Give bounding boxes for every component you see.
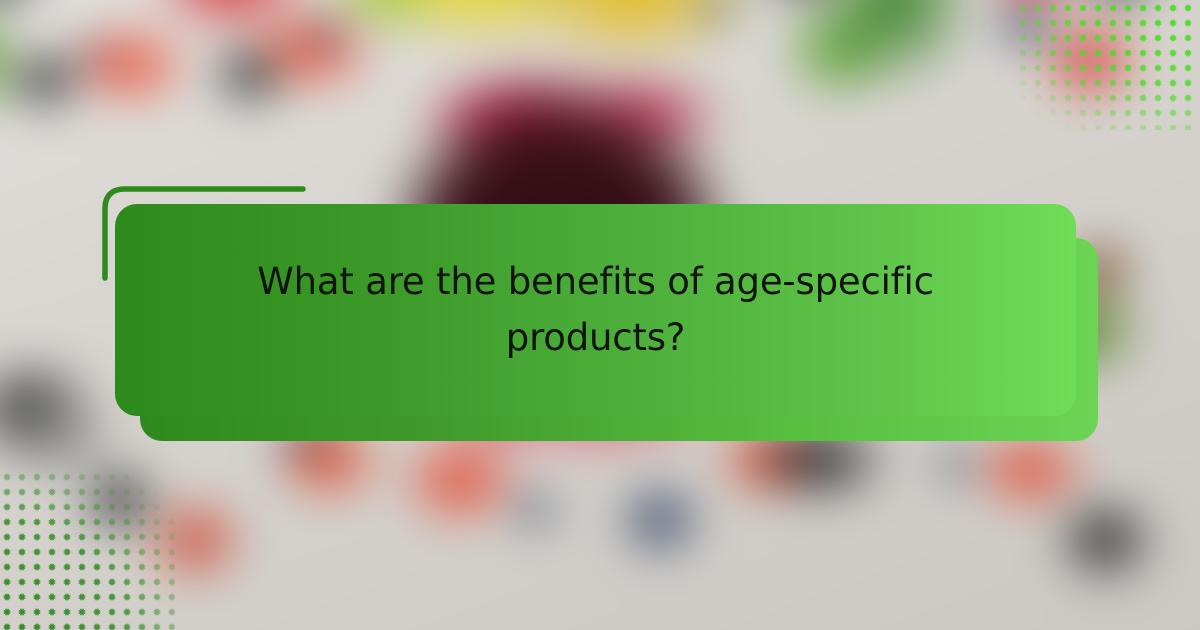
question-text: What are the benefits of age-specific pr… <box>115 254 1076 366</box>
share-card-canvas: What are the benefits of age-specific pr… <box>0 0 1200 630</box>
question-card[interactable]: What are the benefits of age-specific pr… <box>115 204 1076 416</box>
